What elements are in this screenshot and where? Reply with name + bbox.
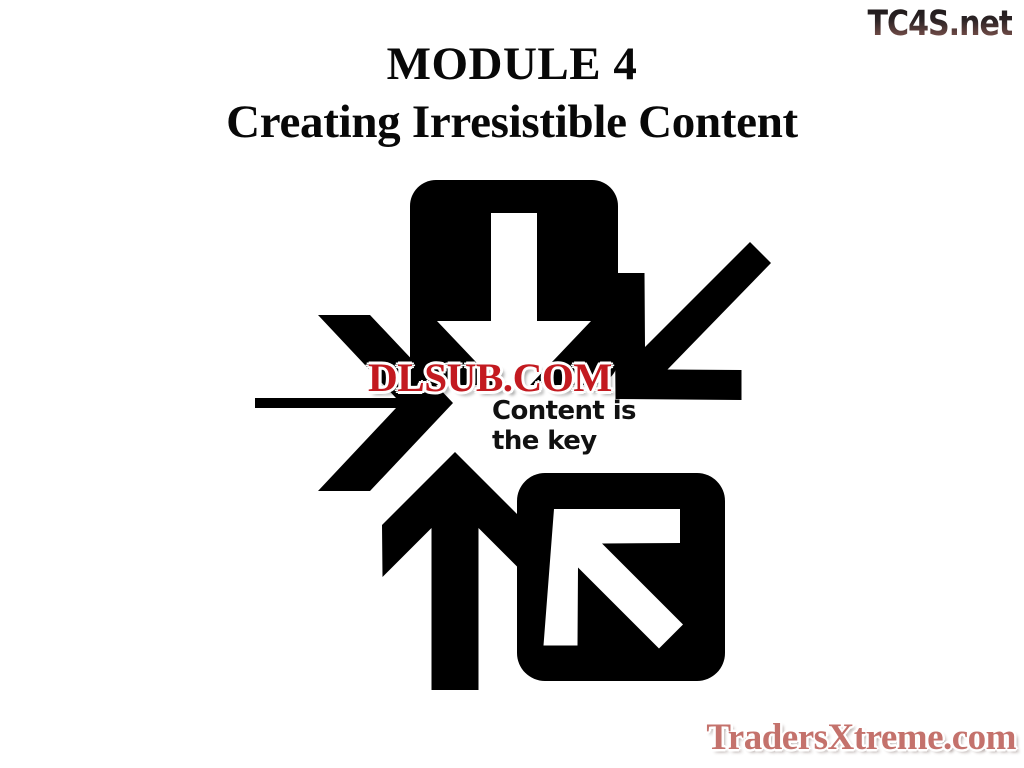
brand-logo-tradersxtreme: TradersXtreme.com [706, 716, 1016, 760]
title-line-module: MODULE 4 [0, 36, 1024, 93]
slide-canvas: TC4S.net MODULE 4 Creating Irresistible … [0, 0, 1024, 768]
upper-right-diagonal-arrow-icon [615, 242, 772, 400]
graphic-caption: Content is the key [492, 396, 682, 456]
page-title: MODULE 4 Creating Irresistible Content [0, 36, 1024, 151]
watermark-dlsub: DLSUB.COM [368, 357, 612, 399]
bottom-right-rounded-square-diagonal-arrow-icon [517, 473, 725, 681]
title-line-subject: Creating Irresistible Content [0, 93, 1024, 151]
bottom-left-up-arrow-icon [382, 452, 528, 690]
